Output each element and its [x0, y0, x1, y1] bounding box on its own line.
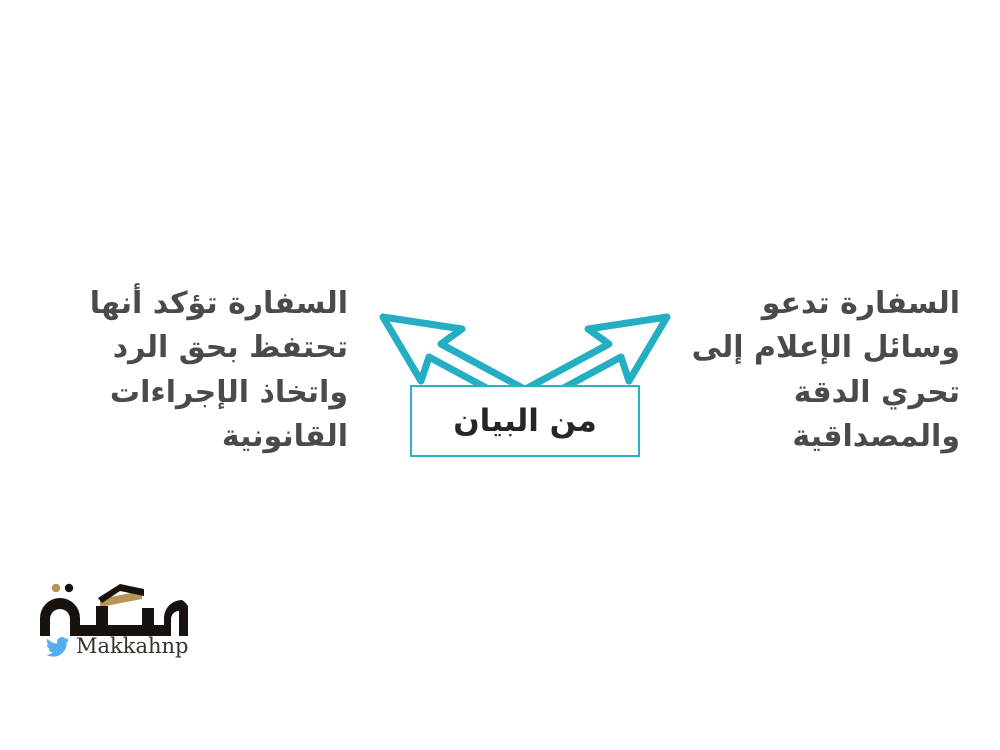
- makkah-wordmark-logo: [38, 578, 190, 638]
- wordmark-counter: [50, 609, 70, 636]
- social-handle[interactable]: Makkahnp: [46, 636, 189, 657]
- statement-left: السفارة تؤكد أنها تحتفظ بحق الرد واتخاذ …: [18, 282, 348, 460]
- center-statement-label: من البيان: [453, 406, 597, 437]
- center-statement-box: من البيان: [410, 385, 640, 457]
- infographic-canvas: من البيان السفارة تؤكد أنها تحتفظ بحق ال…: [0, 0, 1000, 750]
- social-handle-text: Makkahnp: [76, 636, 189, 657]
- wordmark-dot-left: [52, 584, 60, 592]
- twitter-bird-icon: [46, 637, 70, 657]
- wordmark-dot-right: [65, 584, 73, 592]
- statement-right: السفارة تدعو وسائل الإعلام إلى تحري الدق…: [672, 282, 960, 460]
- brand-logo: Makkahnp: [38, 578, 198, 660]
